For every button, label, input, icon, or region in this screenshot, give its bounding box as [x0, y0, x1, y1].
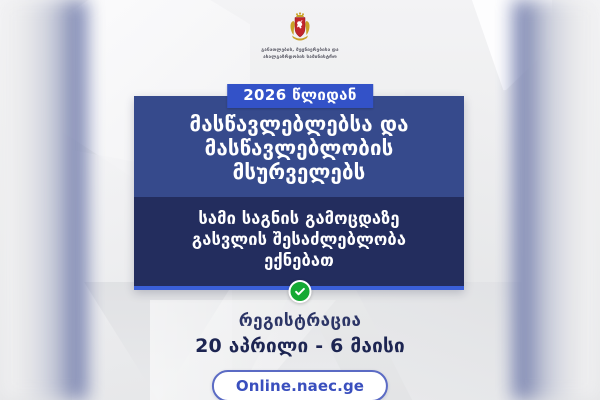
website-url-button[interactable]: Online.naec.ge	[212, 370, 388, 400]
green-check-circle-icon	[289, 280, 312, 303]
headline-panel: მასწავლებლებსა და მასწავლებლობის მსურველ…	[134, 96, 464, 290]
website-url-label: Online.naec.ge	[236, 377, 364, 395]
ministry-name-line-2: ახალგაზრდობის სამინისტრო	[261, 54, 338, 61]
year-badge: 2026 წლიდან	[227, 84, 373, 108]
registration-block: რეგისტრაცია 20 აპრილი - 6 მაისი	[0, 312, 600, 357]
headline-line-2: მასწავლებლობის	[144, 136, 454, 160]
headline-panel-top: მასწავლებლებსა და მასწავლებლობის მსურველ…	[134, 96, 464, 197]
poster-image: განათლების, მეცნიერებისა და ახალგაზრდობი…	[0, 0, 600, 400]
headline-line-3: მსურველებს	[144, 160, 454, 184]
ministry-name: განათლების, მეცნიერებისა და ახალგაზრდობი…	[261, 47, 338, 61]
poster-header: განათლების, მეცნიერებისა და ახალგაზრდობი…	[0, 12, 600, 61]
registration-title: რეგისტრაცია	[0, 312, 600, 332]
subheadline-line-2: გასვლის შესაძლებლობა	[144, 229, 454, 250]
georgia-coat-of-arms-icon	[287, 12, 313, 42]
headline-panel-bottom: სამი საგნის გამოცდაზე გასვლის შესაძლებლო…	[134, 197, 464, 286]
subheadline-line-1: სამი საგნის გამოცდაზე	[144, 208, 454, 229]
ministry-name-line-1: განათლების, მეცნიერებისა და	[261, 47, 338, 54]
headline-line-1: მასწავლებლებსა და	[144, 112, 454, 136]
subheadline-line-3: ექნებათ	[144, 250, 454, 271]
registration-dates: 20 აპრილი - 6 მაისი	[0, 336, 600, 358]
